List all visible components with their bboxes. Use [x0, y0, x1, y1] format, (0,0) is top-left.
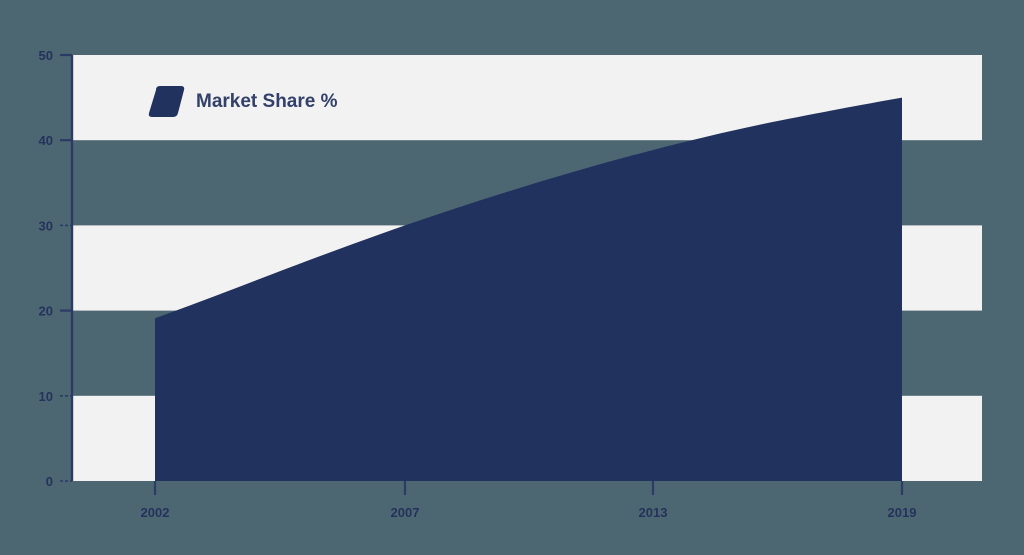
x-tick-label-2002: 2002	[141, 505, 170, 520]
series-market-share	[155, 98, 902, 481]
y-tick-label-40: 40	[39, 133, 53, 148]
y-tick-label-30: 30	[39, 218, 53, 233]
x-tick-label-2013: 2013	[639, 505, 668, 520]
y-tick-label-0: 0	[46, 474, 53, 489]
chart-canvas: 50 40 30 20 10 0 2002 2007 2013 2019 Mar…	[0, 0, 1024, 555]
area-chart: 50 40 30 20 10 0 2002 2007 2013 2019 Mar…	[0, 0, 1024, 555]
x-axis: 2002 2007 2013 2019	[141, 481, 917, 520]
y-axis: 50 40 30 20 10 0	[39, 48, 72, 489]
area-fill-market-share	[155, 98, 902, 481]
y-tick-label-10: 10	[39, 389, 53, 404]
y-tick-label-50: 50	[39, 48, 53, 63]
y-tick-label-20: 20	[39, 304, 53, 319]
x-tick-label-2019: 2019	[888, 505, 917, 520]
x-tick-label-2007: 2007	[391, 505, 420, 520]
legend-label-market-share: Market Share %	[196, 91, 338, 112]
